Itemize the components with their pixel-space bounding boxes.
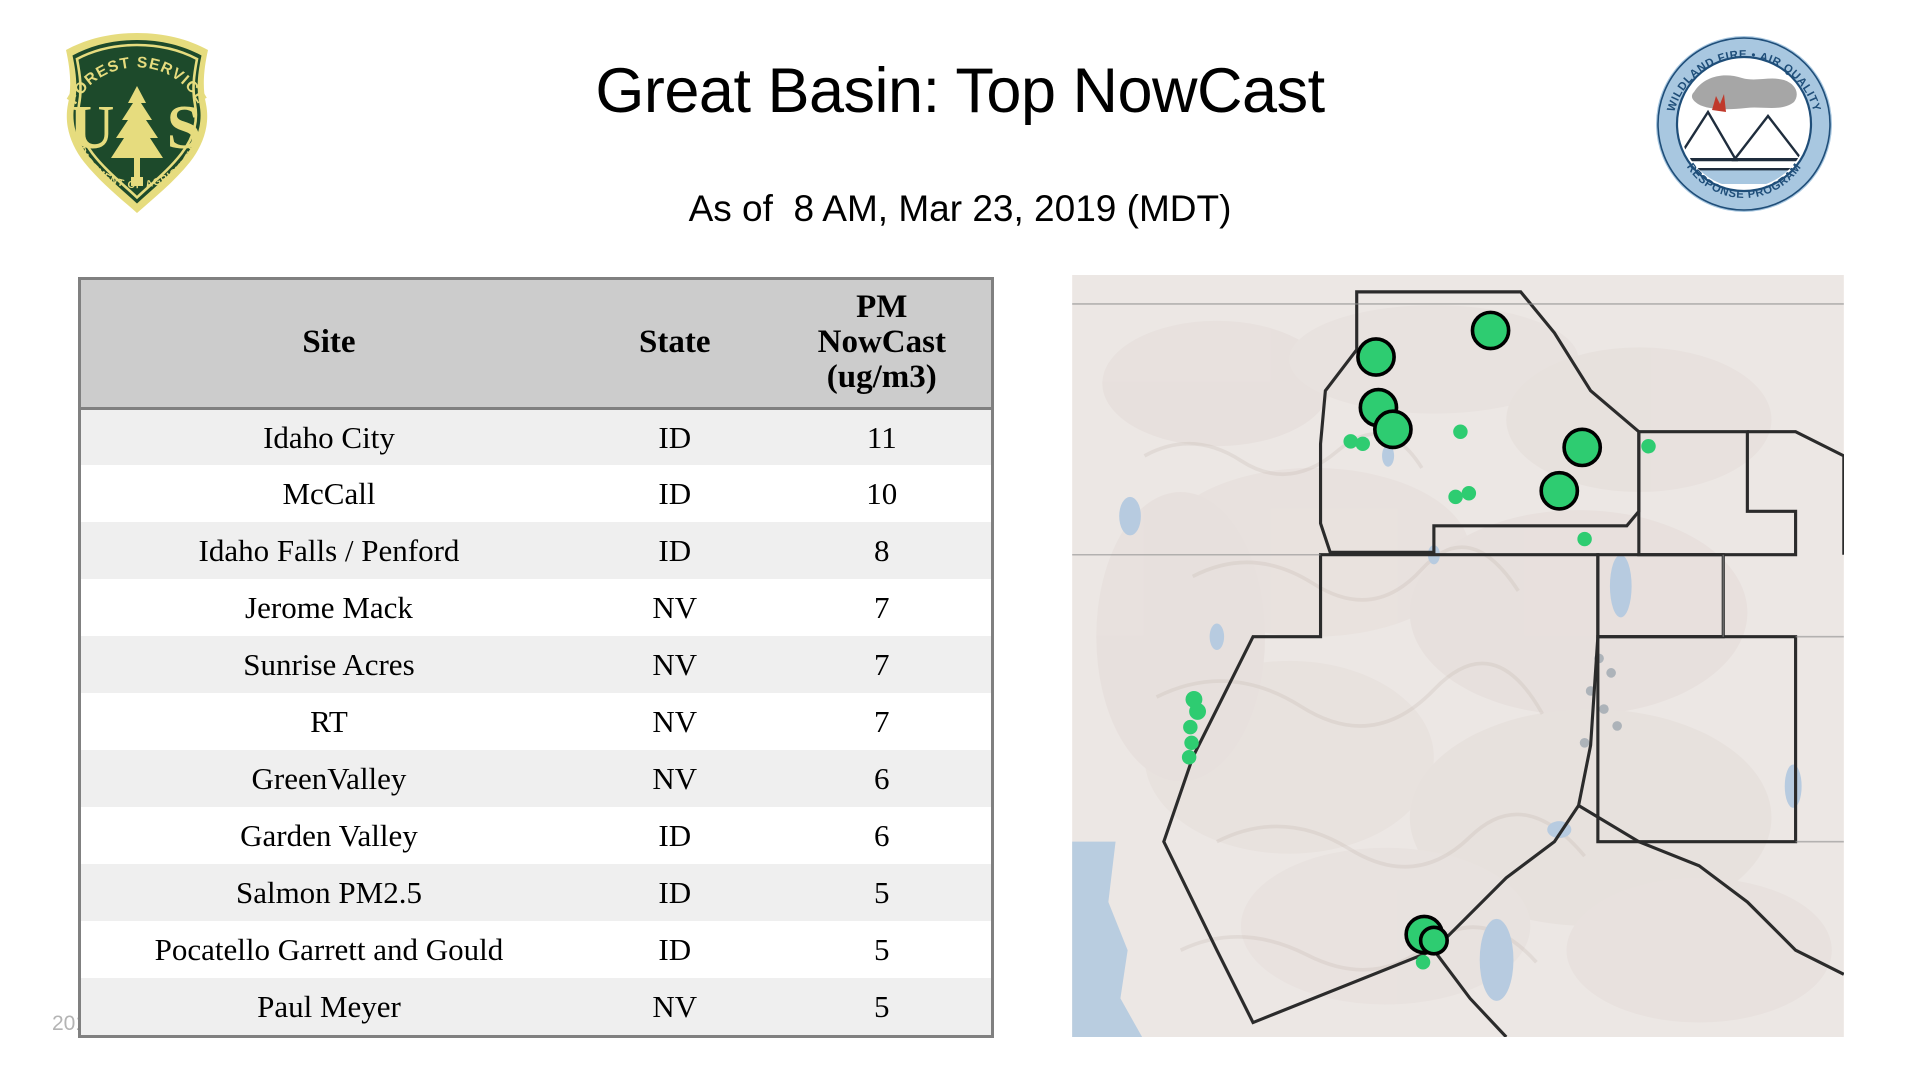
map-monitor-marker[interactable] [1472, 312, 1508, 348]
map-monitor-marker[interactable] [1462, 486, 1476, 500]
table-body: Idaho CityID11McCallID10Idaho Falls / Pe… [81, 408, 991, 1035]
table-header-row: Site State PMNowCast(ug/m3) [81, 280, 991, 408]
table-cell-pm-nowcast: 6 [773, 807, 991, 864]
table-cell-pm-nowcast: 6 [773, 750, 991, 807]
table-row: Sunrise AcresNV7 [81, 636, 991, 693]
table-cell-pm-nowcast: 7 [773, 579, 991, 636]
table-cell-site: Idaho Falls / Penford [81, 522, 577, 579]
map-monitor-marker[interactable] [1189, 703, 1206, 720]
table-row: Garden ValleyID6 [81, 807, 991, 864]
column-header-site: Site [81, 280, 577, 408]
map-monitor-marker[interactable] [1416, 955, 1430, 969]
table-cell-site: GreenValley [81, 750, 577, 807]
column-header-pm-nowcast: PMNowCast(ug/m3) [773, 280, 991, 408]
map-monitor-marker[interactable] [1421, 927, 1448, 954]
table-cell-site: Paul Meyer [81, 978, 577, 1035]
map-monitor-marker[interactable] [1183, 720, 1197, 734]
column-header-state: State [577, 280, 773, 408]
map-panel[interactable] [1072, 275, 1844, 1037]
smoke-plume [1692, 75, 1797, 109]
table-cell-site: McCall [81, 465, 577, 522]
table-cell-state: NV [577, 750, 773, 807]
table-row: GreenValleyNV6 [81, 750, 991, 807]
table-row: Pocatello Garrett and GouldID5 [81, 921, 991, 978]
table-cell-pm-nowcast: 7 [773, 693, 991, 750]
table-cell-state: NV [577, 693, 773, 750]
table-cell-state: NV [577, 636, 773, 693]
table-row: RTNV7 [81, 693, 991, 750]
map-monitor-marker[interactable] [1184, 736, 1198, 750]
map-monitor-marker[interactable] [1358, 339, 1394, 375]
table-cell-pm-nowcast: 5 [773, 864, 991, 921]
map-monitor-marker[interactable] [1182, 750, 1196, 764]
map-monitor-marker[interactable] [1541, 473, 1577, 509]
table-cell-pm-nowcast: 7 [773, 636, 991, 693]
table-cell-state: NV [577, 978, 773, 1035]
table-cell-site: Pocatello Garrett and Gould [81, 921, 577, 978]
table-cell-state: ID [577, 864, 773, 921]
table-row: Idaho CityID11 [81, 408, 991, 465]
map-monitor-marker[interactable] [1375, 411, 1411, 447]
page-title: Great Basin: Top NowCast [0, 60, 1920, 123]
map-monitor-marker[interactable] [1356, 437, 1370, 451]
wfaqrp-logo: WILDLAND FIRE • AIR QUALITY RESPONSE PRO… [1650, 30, 1838, 218]
table-row: Idaho Falls / PenfordID8 [81, 522, 991, 579]
table-row: Paul MeyerNV5 [81, 978, 991, 1035]
table-cell-state: NV [577, 579, 773, 636]
table-cell-pm-nowcast: 5 [773, 978, 991, 1035]
table-row: Salmon PM2.5ID5 [81, 864, 991, 921]
page-subtitle-timestamp: As of 8 AM, Mar 23, 2019 (MDT) [0, 190, 1920, 227]
map-monitor-marker[interactable] [1453, 425, 1467, 439]
table-cell-state: ID [577, 522, 773, 579]
table-cell-pm-nowcast: 11 [773, 408, 991, 465]
table-cell-site: Jerome Mack [81, 579, 577, 636]
map-monitor-marker[interactable] [1577, 532, 1591, 546]
table-cell-site: RT [81, 693, 577, 750]
table-cell-state: ID [577, 921, 773, 978]
map-monitor-marker[interactable] [1564, 429, 1600, 465]
table-cell-state: ID [577, 465, 773, 522]
table-cell-site: Idaho City [81, 408, 577, 465]
table-cell-pm-nowcast: 10 [773, 465, 991, 522]
table-row: McCallID10 [81, 465, 991, 522]
table-cell-site: Garden Valley [81, 807, 577, 864]
table-cell-pm-nowcast: 8 [773, 522, 991, 579]
table-cell-state: ID [577, 408, 773, 465]
table-cell-state: ID [577, 807, 773, 864]
table-header: Site State PMNowCast(ug/m3) [81, 280, 991, 408]
map-monitor-marker[interactable] [1448, 490, 1462, 504]
nowcast-table-container: Site State PMNowCast(ug/m3) Idaho CityID… [78, 277, 994, 1038]
map-monitor-marker[interactable] [1641, 439, 1655, 453]
table-cell-site: Salmon PM2.5 [81, 864, 577, 921]
table-row: Jerome MackNV7 [81, 579, 991, 636]
nowcast-table: Site State PMNowCast(ug/m3) Idaho CityID… [81, 280, 991, 1035]
map-monitor-marker[interactable] [1343, 434, 1357, 448]
table-cell-site: Sunrise Acres [81, 636, 577, 693]
table-cell-pm-nowcast: 5 [773, 921, 991, 978]
